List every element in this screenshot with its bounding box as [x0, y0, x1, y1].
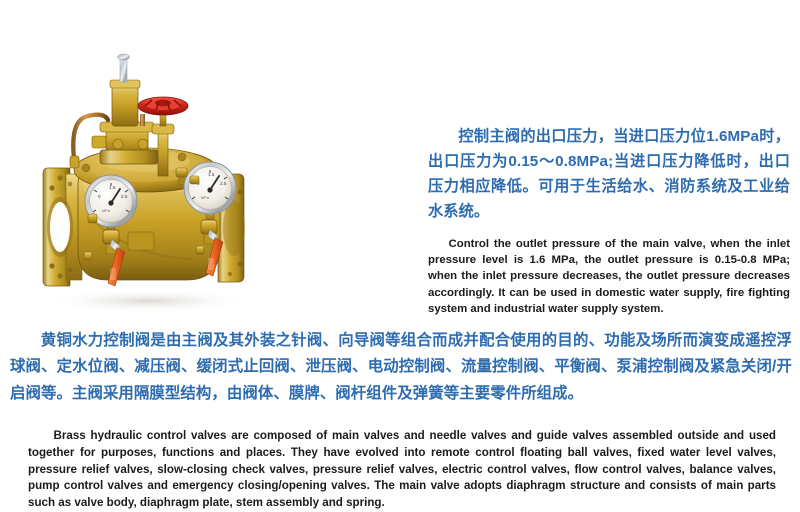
- overview-chinese-paragraph: 黄铜水力控制阀是由主阀及其外装之针阀、向导阀等组合而成并配合使用的目的、功能及场…: [10, 328, 792, 407]
- spec-chinese-paragraph: 控制主阀的出口压力，当进口压力位1.6MPa时，出口压力为0.15～0.8MPa…: [428, 124, 790, 224]
- svg-text:1.5: 1.5: [109, 185, 116, 190]
- svg-text:MPa: MPa: [201, 196, 210, 200]
- svg-text:2.5: 2.5: [121, 194, 128, 199]
- adjusting-stem: [120, 58, 127, 82]
- svg-text:1.5: 1.5: [208, 172, 215, 177]
- pilot-riser-tube: [140, 114, 145, 126]
- svg-text:0: 0: [98, 194, 101, 199]
- valve-shadow: [40, 289, 256, 313]
- valve-illustration: 0 1.5 2.5 MPa 0 1.5 2.5 MPa: [0, 18, 400, 318]
- inlet-flange: [43, 168, 82, 286]
- svg-text:2.5: 2.5: [220, 181, 227, 186]
- body-nameplate: [128, 232, 154, 250]
- spec-text-block: 控制主阀的出口压力，当进口压力位1.6MPa时，出口压力为0.15～0.8MPa…: [428, 124, 790, 317]
- svg-text:MPa: MPa: [102, 209, 111, 213]
- red-handwheel: [138, 97, 188, 115]
- product-image: 0 1.5 2.5 MPa 0 1.5 2.5 MPa: [0, 18, 400, 318]
- overview-english-paragraph: Brass hydraulic control valves are compo…: [28, 428, 776, 512]
- overview-english-block: Brass hydraulic control valves are compo…: [28, 428, 776, 512]
- overview-chinese-block: 黄铜水力控制阀是由主阀及其外装之针阀、向导阀等组合而成并配合使用的目的、功能及场…: [10, 328, 792, 407]
- spec-english-paragraph: Control the outlet pressure of the main …: [428, 236, 790, 317]
- tube-fitting: [70, 156, 79, 168]
